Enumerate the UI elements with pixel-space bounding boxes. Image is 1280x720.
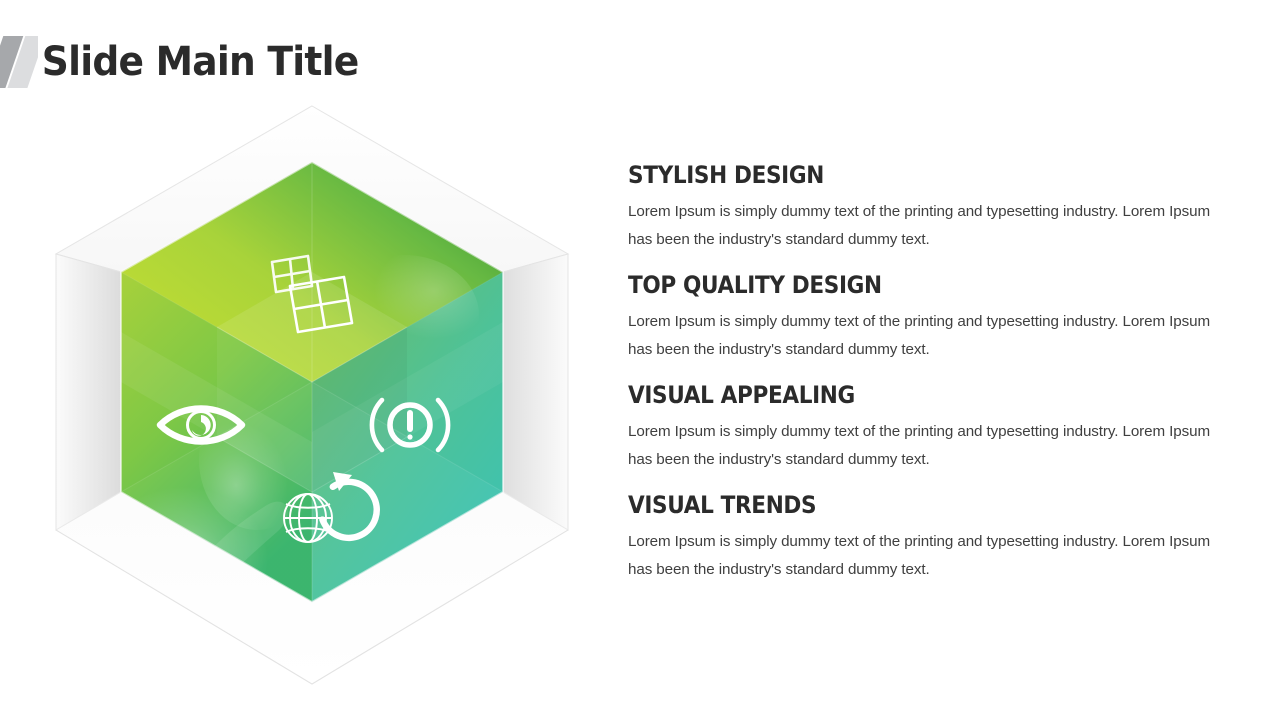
feature-heading: VISUAL TRENDS	[628, 493, 1168, 519]
feature-body: Lorem Ipsum is simply dummy text of the …	[628, 308, 1224, 364]
list-item: STYLISH DESIGN Lorem Ipsum is simply dum…	[628, 163, 1228, 254]
page-title: Slide Main Title	[38, 42, 359, 82]
feature-list: STYLISH DESIGN Lorem Ipsum is simply dum…	[628, 163, 1228, 584]
list-item: VISUAL TRENDS Lorem Ipsum is simply dumm…	[628, 493, 1228, 584]
list-item: VISUAL APPEALING Lorem Ipsum is simply d…	[628, 383, 1228, 474]
double-slash-mark-icon	[0, 36, 38, 88]
feature-heading: STYLISH DESIGN	[628, 163, 1168, 189]
shell-right-wall	[503, 254, 568, 530]
feature-heading: VISUAL APPEALING	[628, 383, 1168, 409]
slide-header: Slide Main Title	[0, 34, 379, 90]
feature-body: Lorem Ipsum is simply dummy text of the …	[628, 198, 1224, 254]
feature-body: Lorem Ipsum is simply dummy text of the …	[628, 528, 1224, 584]
isometric-cube-infographic: CS	[52, 100, 572, 690]
feature-body: Lorem Ipsum is simply dummy text of the …	[628, 418, 1224, 474]
slide-canvas: Slide Main Title	[0, 0, 1280, 720]
feature-heading: TOP QUALITY DESIGN	[628, 273, 1168, 299]
list-item: TOP QUALITY DESIGN Lorem Ipsum is simply…	[628, 273, 1228, 364]
shell-left-wall	[56, 254, 121, 530]
